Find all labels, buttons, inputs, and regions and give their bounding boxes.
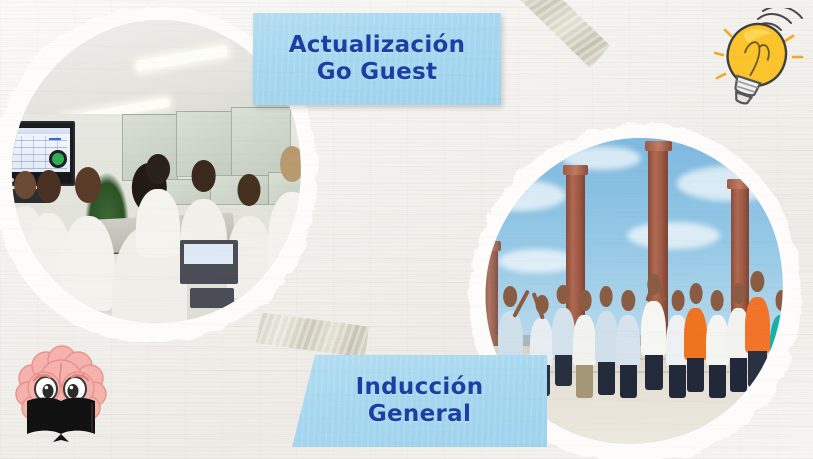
banner-induccion-general: Inducción General (292, 355, 547, 447)
brain-reading-book-icon (8, 344, 114, 446)
banner-top-line2: Go Guest (289, 59, 466, 86)
banner-bottom-line2: General (356, 401, 484, 428)
banner-actualizacion-go-guest: Actualización Go Guest (253, 13, 501, 105)
laptop (180, 240, 238, 284)
lightbulb-icon (714, 8, 806, 118)
slide-canvas: Actualización Go Guest Inducción General (0, 0, 813, 459)
banner-top-text: Actualización Go Guest (289, 32, 466, 85)
banner-bottom-text: Inducción General (356, 374, 484, 427)
banner-bottom-line1: Inducción (356, 374, 484, 401)
tape-strip-top (490, 0, 612, 71)
banner-top-line1: Actualización (289, 32, 466, 59)
